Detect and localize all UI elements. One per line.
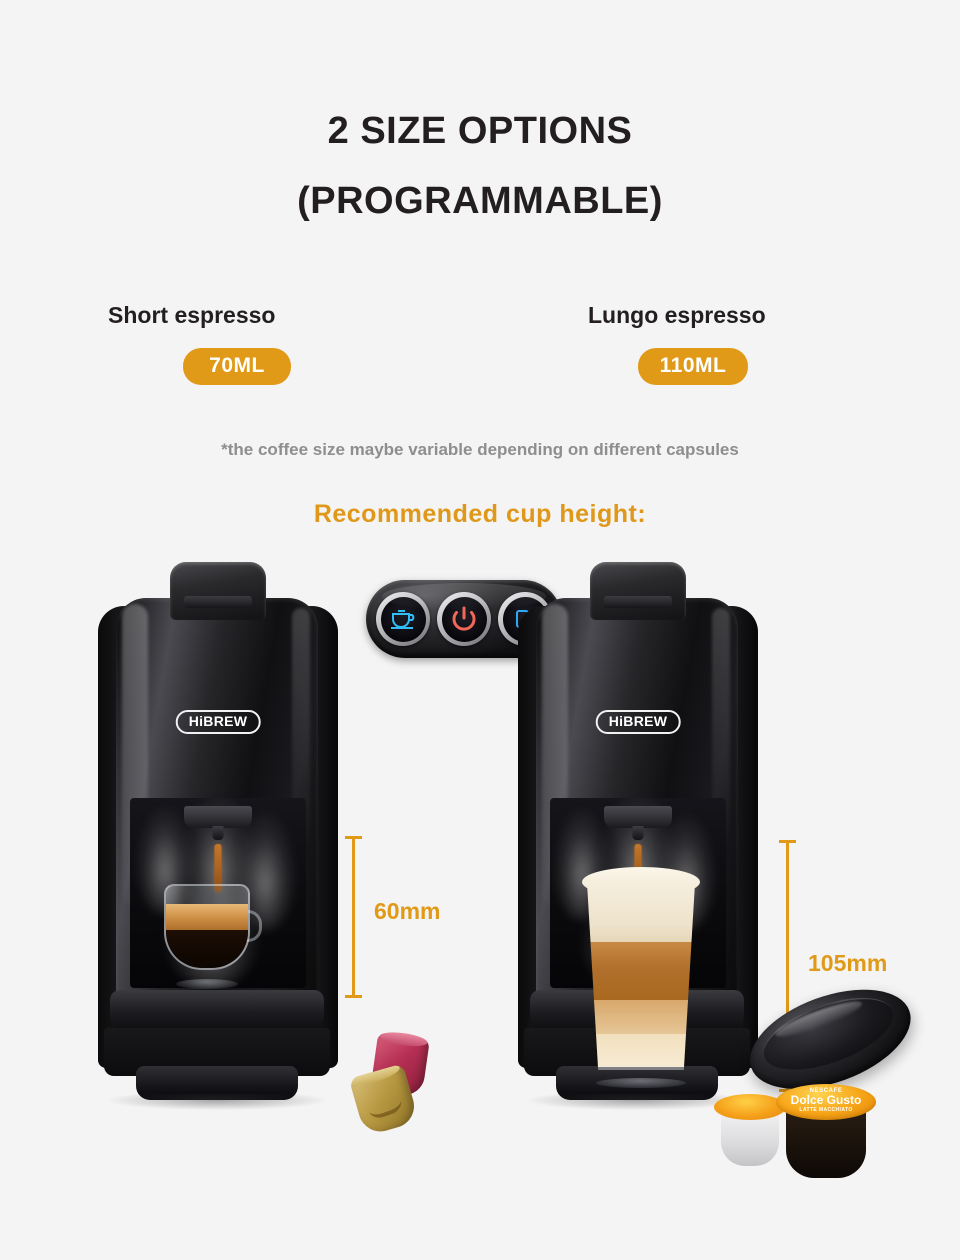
brand-logo-badge: HiBREW [176,710,261,734]
capsule-foil-lid: NESCAFE Dolce Gusto LATTE MACCHIATO [776,1084,876,1120]
cup-base-reflection [176,979,238,989]
small-cup-icon [381,597,426,642]
capsule-front: NESCAFE Dolce Gusto LATTE MACCHIATO [776,1084,876,1182]
power-icon [442,597,487,642]
glass-base-reflection [596,1078,686,1088]
dolce-gusto-capsules: NESCAFE Dolce Gusto LATTE MACCHIATO [714,1084,884,1184]
short-espresso-label: Short espresso [108,302,275,329]
blend-layer [580,1000,702,1034]
cup-crema-layer [166,904,248,930]
brand-logo-badge: HiBREW [596,710,681,734]
page-title-line-1: 2 SIZE OPTIONS [0,112,960,150]
dimension-cap-bottom [345,995,362,998]
disclaimer-note: *the coffee size maybe variable dependin… [0,440,960,460]
nespresso-capsules [352,1032,456,1148]
lungo-espresso-volume-badge: 110ML [638,348,748,385]
capsule-brand-main: Dolce Gusto [776,1094,876,1107]
cup-height-heading: Recommended cup height: [0,500,960,529]
capsule-swirl-mark [363,1085,404,1121]
machine-capsule-lever[interactable] [170,562,266,620]
foam-layer [580,880,702,942]
dimension-label: 105mm [808,950,887,977]
page-title-line-2: (PROGRAMMABLE) [0,182,960,220]
size-options-row: Short espresso 70ML Lungo espresso 110ML [0,288,960,398]
power-button[interactable] [437,592,491,646]
machine-shadow [108,1094,326,1110]
small-cup-button[interactable] [376,592,430,646]
glass-body [578,880,704,1070]
dimension-cap-top [779,840,796,843]
machine-nozzle [604,806,672,828]
latte-macchiato-glass [578,880,704,1082]
lungo-espresso-label: Lungo espresso [588,302,766,329]
coffee-layer [580,942,702,1000]
dimension-label: 60mm [374,898,440,925]
short-espresso-volume-badge: 70ML [183,348,291,385]
machine-capsule-lever[interactable] [590,562,686,620]
machine-nozzle [184,806,252,828]
dimension-line [352,836,355,998]
dimension-cap-top [345,836,362,839]
milk-layer [580,1034,702,1070]
capsule-brand-text: NESCAFE Dolce Gusto LATTE MACCHIATO [776,1088,876,1113]
capsule-variant: LATTE MACCHIATO [776,1108,876,1113]
espresso-glass-cup [160,884,254,982]
cup-glass-body [164,884,250,970]
coffee-machine-short: HiBREW [92,558,344,1128]
